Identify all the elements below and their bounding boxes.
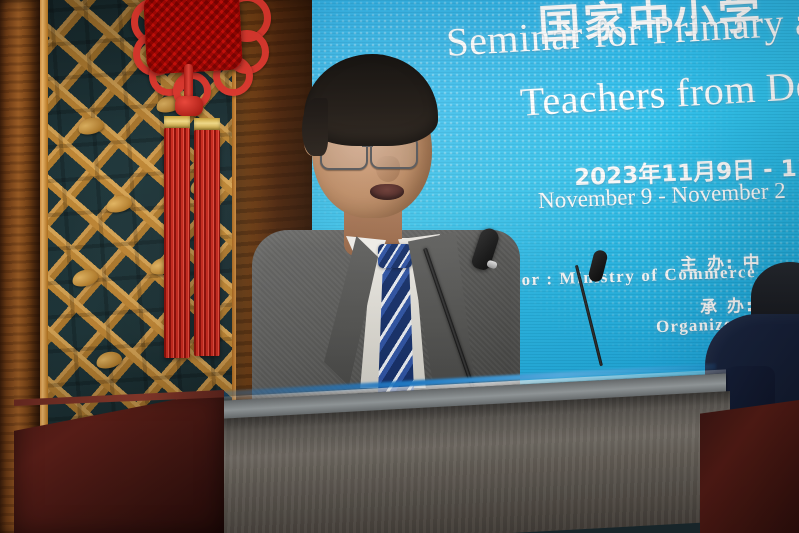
chinese-knot-decoration: [131, 0, 255, 232]
speaker-hair-sideburn: [302, 98, 328, 156]
speaker-mouth: [370, 184, 404, 200]
conference-photo-scene: 国家中小学 Seminar for Primary a Teachers fro…: [0, 0, 799, 533]
podium-assembly: [0, 376, 799, 533]
knot-bead: [175, 96, 203, 116]
podium-right-side-panel: [700, 400, 799, 533]
podium-left-side-panel: [14, 390, 224, 533]
knot-woven-body: [143, 0, 243, 74]
tassel-strand: [194, 130, 220, 356]
tassel-strand: [164, 128, 190, 358]
necktie-knot: [378, 244, 412, 268]
